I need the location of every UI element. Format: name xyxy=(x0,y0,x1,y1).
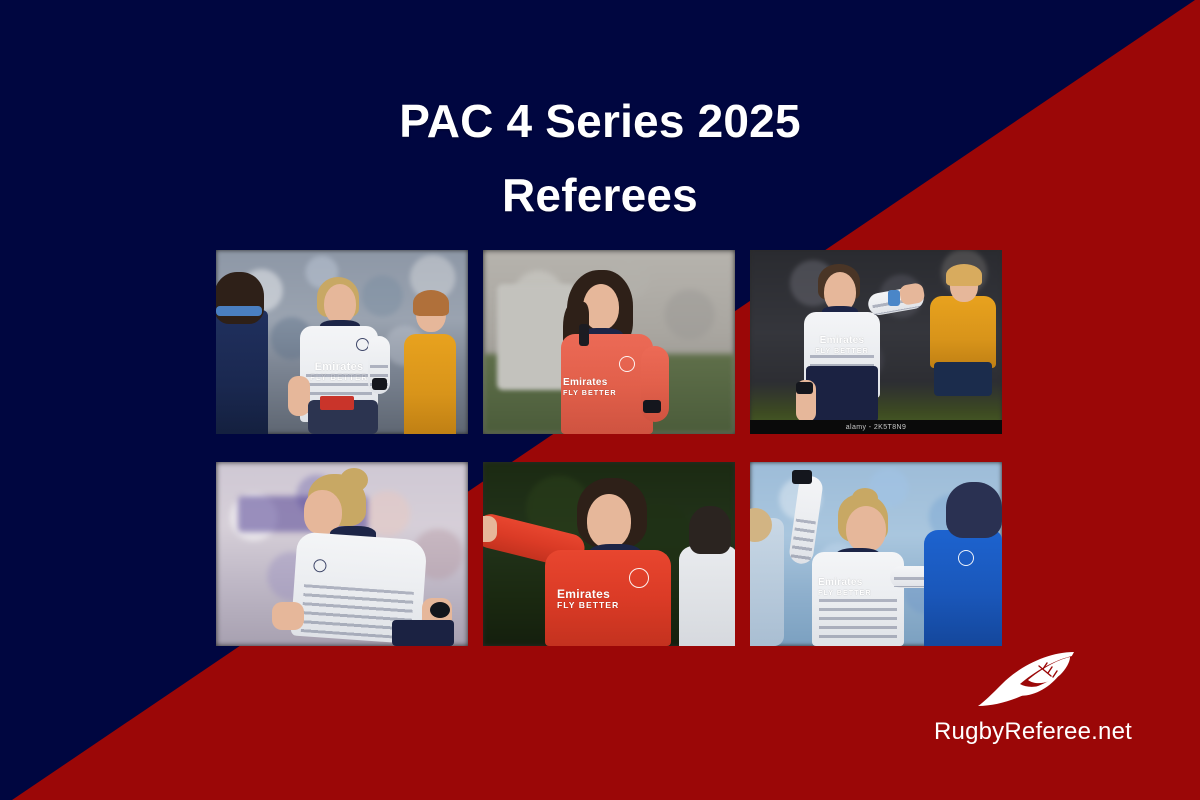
player-background-shorts xyxy=(934,362,992,396)
referee-watch xyxy=(792,470,812,484)
brand-logo[interactable]: RugbyReferee.net xyxy=(918,650,1148,760)
rugby-ball-swoosh-icon xyxy=(976,650,1096,712)
referee-red-card xyxy=(320,396,354,410)
player-background-blue xyxy=(924,530,1002,646)
referee-head xyxy=(324,284,356,324)
referee-photo-top-centre: Emirates FLY BETTER xyxy=(483,250,735,434)
referee-wristband xyxy=(888,290,900,306)
referee-hair-bun xyxy=(340,468,368,492)
brand-name: RugbyReferee.net xyxy=(918,718,1148,746)
referee-watch xyxy=(430,602,450,618)
page-subtitle: Referees xyxy=(0,169,1200,221)
referee-jersey: Emirates FLY BETTER xyxy=(561,334,653,434)
referee-pointing-hand xyxy=(483,516,497,542)
player-background-scrumcap xyxy=(946,482,1002,538)
world-rugby-logo-icon xyxy=(619,356,635,372)
jersey-sponsor-text: Emirates FLY BETTER xyxy=(804,336,880,354)
world-rugby-logo-icon xyxy=(958,550,974,566)
referee-photo-bottom-right: Emirates FLY BETTER xyxy=(750,462,1002,646)
player-background-hair xyxy=(413,290,449,316)
jersey-sponsor-text: Emirates FLY BETTER xyxy=(557,588,649,610)
player-foreground-head xyxy=(689,506,731,554)
referee-left-forearm xyxy=(288,376,310,416)
world-rugby-logo-icon xyxy=(313,559,327,573)
referee-head xyxy=(587,494,631,548)
referee-hair-bun xyxy=(852,488,878,508)
referee-photo-bottom-left xyxy=(216,462,468,646)
referee-watch xyxy=(643,400,661,413)
photo-watermark: alamy - 2K5T8N9 xyxy=(750,420,1002,434)
player-background-gold xyxy=(930,296,996,368)
referee-microphone xyxy=(579,324,589,346)
referee-watch xyxy=(796,382,813,394)
jersey-sponsor-text: Emirates FLY BETTER xyxy=(818,578,892,596)
referee-photo-top-right: Emirates FLY BETTER alamy - 2K5T8N9 xyxy=(750,250,1002,434)
jersey-sponsor-text: Emirates FLY BETTER xyxy=(300,362,378,382)
referee-jersey: Emirates FLY BETTER xyxy=(812,552,904,646)
poster-canvas: PAC 4 Series 2025 Referees Emirates FLY … xyxy=(0,0,1200,800)
referee-left-hand xyxy=(272,602,304,630)
poster-heading: PAC 4 Series 2025 Referees xyxy=(0,95,1200,221)
player-foreground-headband xyxy=(216,306,262,316)
referee-photo-bottom-centre: Emirates FLY BETTER xyxy=(483,462,735,646)
player-foreground-white xyxy=(679,546,735,646)
referee-photo-top-left: Emirates FLY BETTER xyxy=(216,250,468,434)
player-background-gold xyxy=(404,334,456,434)
page-title: PAC 4 Series 2025 xyxy=(0,95,1200,147)
referee-shorts xyxy=(392,620,454,646)
world-rugby-logo-icon xyxy=(629,568,649,588)
referee-jersey: Emirates FLY BETTER xyxy=(545,550,671,646)
player-foreground-hair xyxy=(216,272,264,324)
player-foreground-navy xyxy=(216,310,268,434)
jersey-sponsor-text: Emirates FLY BETTER xyxy=(563,378,627,396)
referee-head xyxy=(846,506,886,552)
referee-shorts xyxy=(806,366,878,422)
referee-photo-grid: Emirates FLY BETTER xyxy=(216,250,986,646)
player-background-hair xyxy=(946,264,982,286)
referee-watch xyxy=(372,378,387,390)
